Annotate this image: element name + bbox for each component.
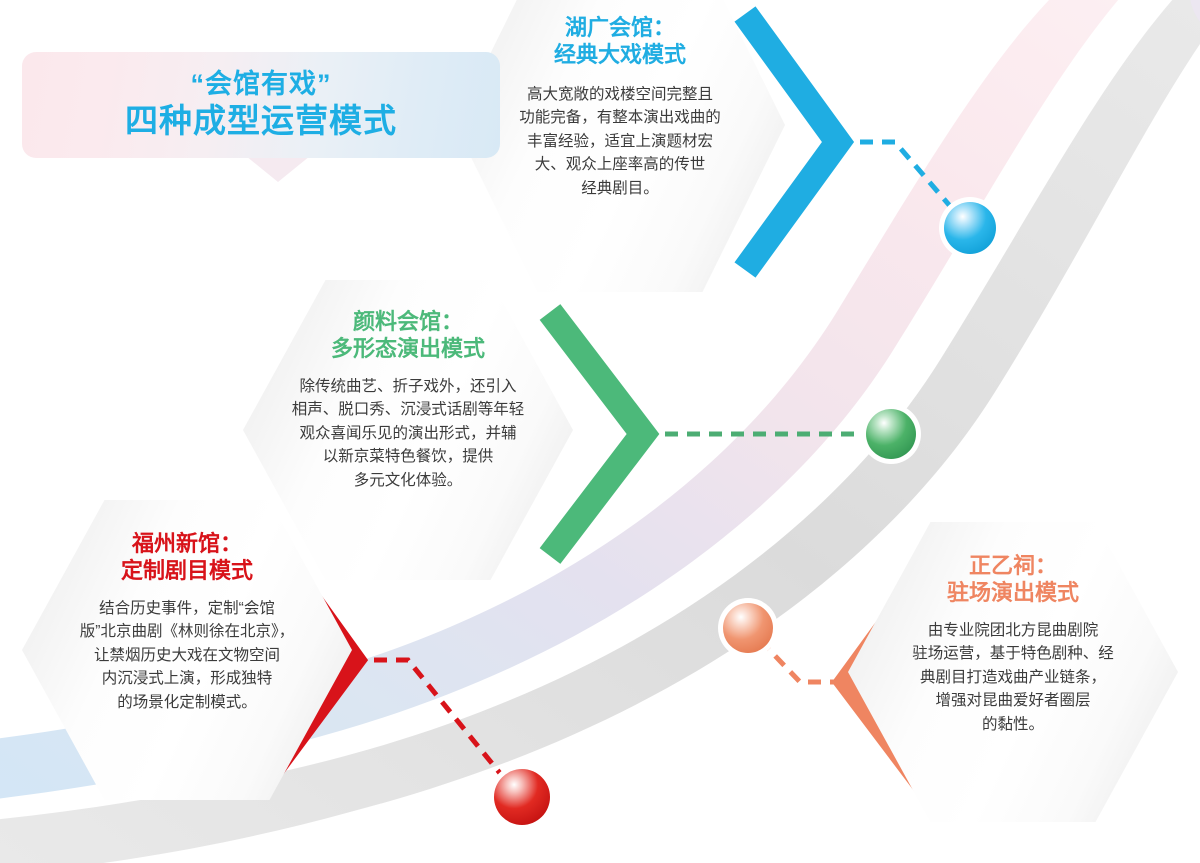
card-body-yanliao: 除传统曲艺、折子戏外，还引入 相声、脱口秀、沉浸式话剧等年轻 观众喜闻乐见的演出… (263, 375, 553, 493)
card-body-fuzhou: 结合历史事件，定制“会馆 版”北京曲剧《林则徐在北京》， 让禁烟历史大戏在文物空… (43, 597, 331, 715)
card-body-zhengyici: 由专业院团北方昆曲剧院 驻场运营，基于特色剧种、经 典剧目打造戏曲产业链条， 增… (869, 619, 1157, 737)
card-title-yanliao: 颜料会馆： 多形态演出模式 (331, 308, 485, 363)
infographic-canvas: 湖广会馆： 经典大戏模式 高大宽敞的戏楼空间完整且 功能完备，有整本演出戏曲的 … (0, 0, 1200, 863)
card-title-fuzhou: 福州新馆： 定制剧目模式 (121, 530, 253, 585)
card-fuzhou[interactable]: 福州新馆： 定制剧目模式 结合历史事件，定制“会馆 版”北京曲剧《林则徐在北京》… (22, 500, 352, 800)
card-body-huguang: 高大宽敞的戏楼空间完整且 功能完备，有整本演出戏曲的 丰富经验，适宜上演题材宏 … (479, 83, 761, 201)
card-zhengyici[interactable]: 正乙祠： 驻场演出模式 由专业院团北方昆曲剧院 驻场运营，基于特色剧种、经 典剧… (848, 522, 1178, 822)
banner-line-1: “会馆有戏” (191, 69, 332, 101)
banner-line-2: 四种成型运营模式 (125, 102, 397, 141)
banner-tail (246, 156, 310, 182)
card-huguang[interactable]: 湖广会馆： 经典大戏模式 高大宽敞的戏楼空间完整且 功能完备，有整本演出戏曲的 … (455, 0, 785, 292)
title-banner: “会馆有戏” 四种成型运营模式 (22, 52, 500, 158)
card-title-zhengyici: 正乙祠： 驻场演出模式 (947, 552, 1079, 607)
card-title-huguang: 湖广会馆： 经典大戏模式 (554, 14, 686, 69)
